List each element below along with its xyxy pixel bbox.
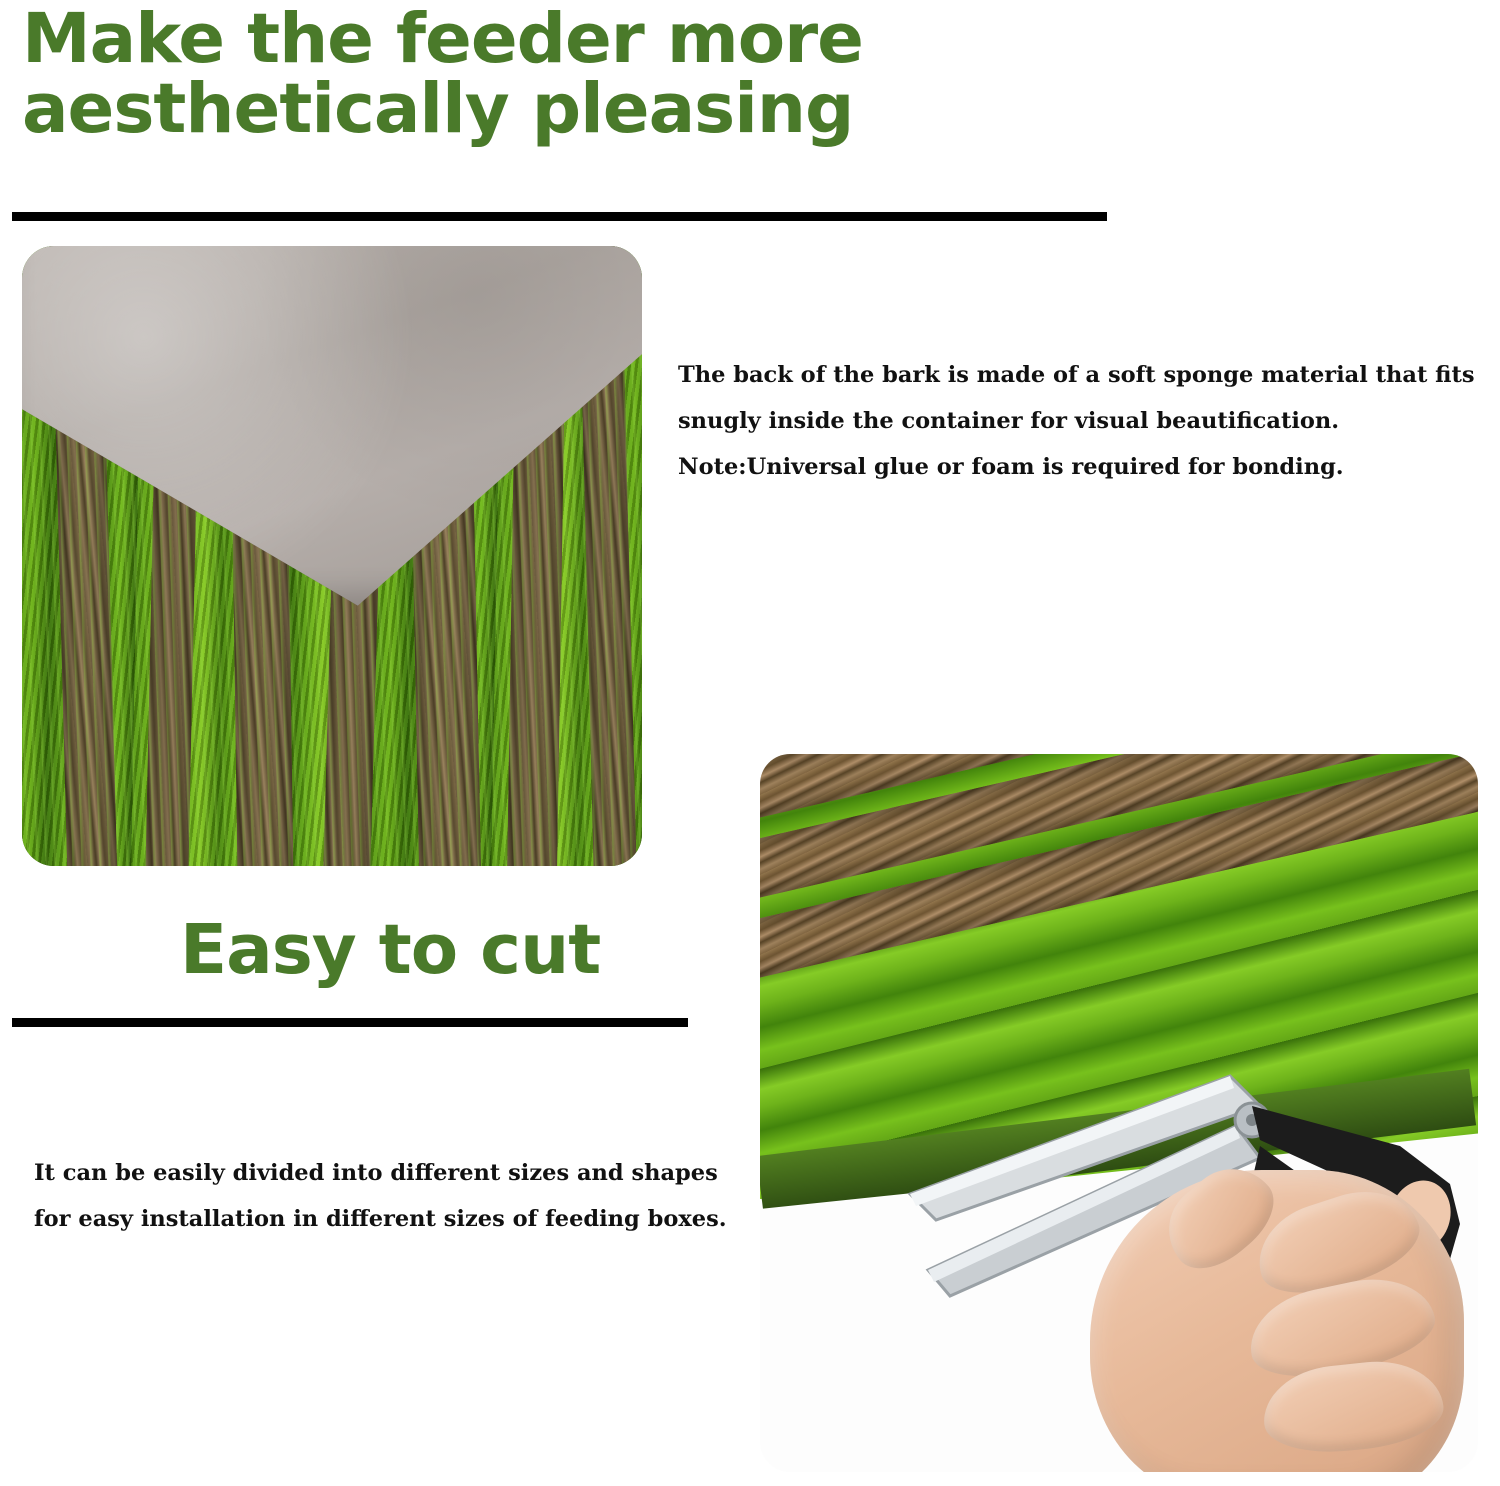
image-scissors-cutting-moss — [760, 754, 1478, 1472]
heading-divider-top — [12, 212, 1107, 221]
section-heading-easy-to-cut: Easy to cut — [180, 915, 740, 985]
section-body-easy-to-cut: It can be easily divided into different … — [34, 1150, 744, 1242]
section-heading-make-feeder-aesthetic: Make the feeder more aesthetically pleas… — [22, 4, 1142, 145]
heading-divider-bottom — [12, 1018, 688, 1027]
infographic-page: Make the feeder more aesthetically pleas… — [0, 0, 1500, 1486]
section-body-make-feeder-aesthetic: The back of the bark is made of a soft s… — [678, 352, 1498, 490]
image-moss-bark-panel — [22, 246, 642, 866]
